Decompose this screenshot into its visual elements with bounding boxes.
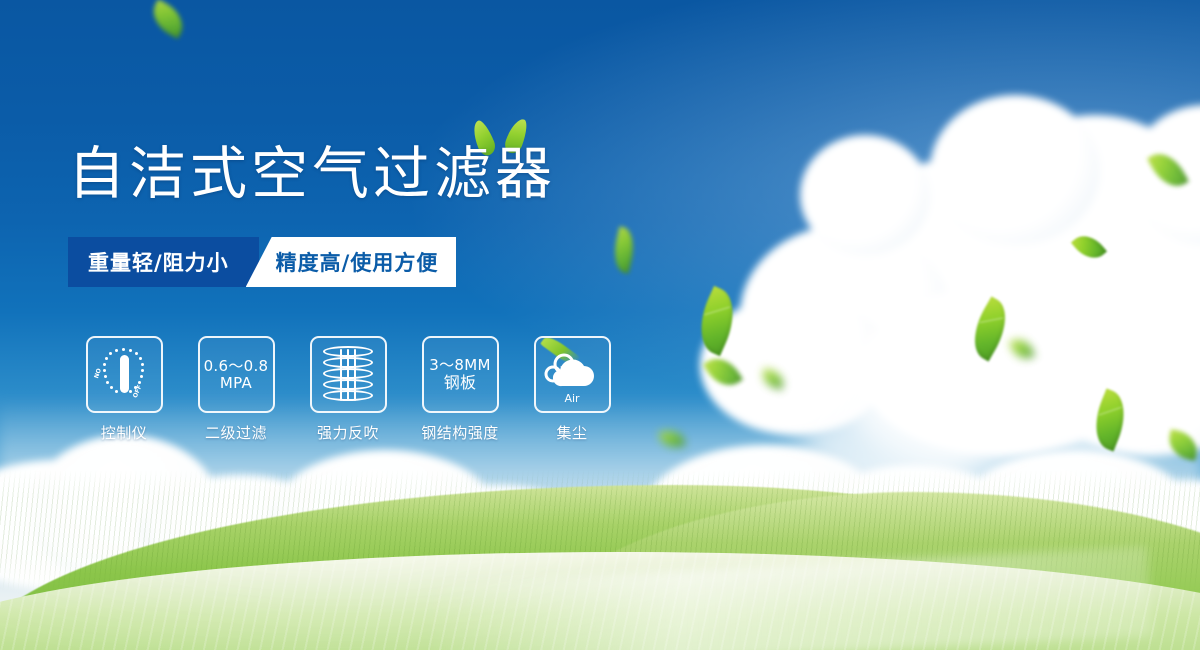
feature-item-backflush[interactable]: 强力反吹 [292,336,404,443]
gauge-needle [120,355,129,393]
feature-label: 集尘 [556,422,587,443]
feature-item-dust[interactable]: Air 集尘 [516,336,628,443]
pressure-value-line2: MPA [220,375,252,392]
feature-item-pressure[interactable]: 0.6～0.8 MPA 二级过滤 [180,336,292,443]
feature-icon-box: Air [534,336,611,413]
feature-icon-box: 0.6～0.8 MPA [198,336,275,413]
product-hero-banner: 自洁式空气过滤器 重量轻/阻力小 精度高/使用方便 [0,0,1200,650]
feature-label: 控制仪 [101,422,148,443]
air-word-label: Air [564,392,579,405]
feature-icon-box: NO OFF [86,336,163,413]
steel-value-line1: 3～8MM [429,357,490,374]
pressure-value-line1: 0.6～0.8 [204,358,269,375]
subtitle-left-panel: 重量轻/阻力小 [68,237,259,287]
coil-stack-icon [323,346,373,404]
air-cloud-icon: Air [542,346,602,404]
feature-list: NO OFF 控制仪 0.6～0.8 MPA 二级过滤 [68,336,628,443]
feature-icon-box: 3～8MM 钢板 [422,336,499,413]
subtitle-bar: 重量轻/阻力小 精度高/使用方便 [68,237,456,287]
feature-label: 二级过滤 [205,422,267,443]
floating-leaf-icon [761,368,786,390]
feature-label: 钢结构强度 [421,422,499,443]
feature-label: 强力反吹 [317,422,379,443]
feature-item-steel[interactable]: 3～8MM 钢板 钢结构强度 [404,336,516,443]
feature-icon-box [310,336,387,413]
feature-item-control[interactable]: NO OFF 控制仪 [68,336,180,443]
gauge-label-on: NO [93,367,103,379]
steel-value-line2: 钢板 [444,374,477,392]
gauge-dial-icon: NO OFF [93,346,155,404]
page-title: 自洁式空气过滤器 [68,146,556,203]
subtitle-right-panel: 精度高/使用方便 [246,237,457,287]
